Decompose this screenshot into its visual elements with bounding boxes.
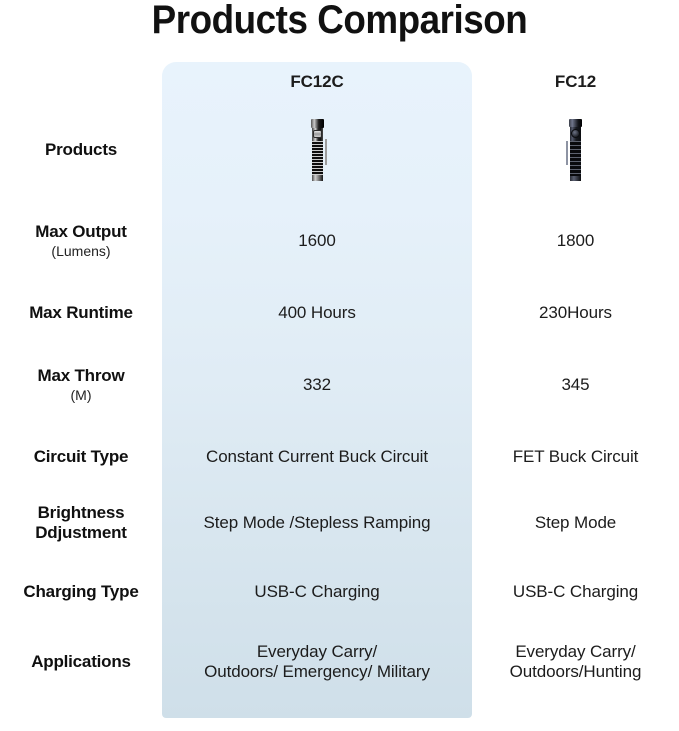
page-title: Products Comparison	[27, 0, 652, 43]
product-image-fc12-cell	[472, 119, 679, 181]
row-label-max-runtime: Max Runtime	[0, 303, 162, 323]
value-line1: Everyday Carry/	[515, 642, 635, 661]
value-line2: Outdoors/ Emergency/ Military	[168, 662, 466, 682]
table-header-row: FC12C FC12	[0, 62, 679, 102]
value-fc12c-max-throw: 332	[162, 375, 472, 395]
value-fc12c-charging-type: USB-C Charging	[162, 582, 472, 602]
table-row-max-output: Max Output (Lumens) 1600 1800	[0, 198, 679, 284]
flashlight-icon	[309, 119, 326, 181]
row-label-max-output: Max Output (Lumens)	[0, 222, 162, 260]
value-fc12c-brightness-adjustment: Step Mode /Stepless Ramping	[162, 513, 472, 533]
row-label-charging-type: Charging Type	[0, 582, 162, 602]
row-label-text: Max Throw	[38, 366, 125, 385]
value-fc12-brightness-adjustment: Step Mode	[472, 513, 679, 533]
value-fc12-charging-type: USB-C Charging	[472, 582, 679, 602]
row-label-text: Max Output	[35, 222, 127, 241]
value-fc12-max-throw: 345	[472, 375, 679, 395]
value-fc12c-applications: Everyday Carry/ Outdoors/ Emergency/ Mil…	[162, 642, 472, 682]
row-label-line2: Ddjustment	[35, 523, 127, 542]
row-label-circuit-type: Circuit Type	[0, 447, 162, 467]
table-row-brightness-adjustment: Brightness Ddjustment Step Mode /Steples…	[0, 486, 679, 560]
table-row-max-throw: Max Throw (M) 332 345	[0, 342, 679, 428]
table-row-products: Products	[0, 102, 679, 198]
value-fc12-circuit-type: FET Buck Circuit	[472, 447, 679, 467]
value-fc12-max-runtime: 230Hours	[472, 303, 679, 323]
value-fc12c-max-output: 1600	[162, 231, 472, 251]
row-label-applications: Applications	[0, 652, 162, 672]
row-label-unit: (Lumens)	[6, 243, 156, 260]
column-header-fc12c: FC12C	[162, 72, 472, 92]
value-fc12-max-output: 1800	[472, 231, 679, 251]
row-label-max-throw: Max Throw (M)	[0, 366, 162, 404]
table-row-max-runtime: Max Runtime 400 Hours 230Hours	[0, 284, 679, 342]
flashlight-icon	[567, 119, 584, 181]
value-line1: Everyday Carry/	[257, 642, 377, 661]
value-fc12-applications: Everyday Carry/ Outdoors/Hunting	[472, 642, 679, 682]
row-label-products: Products	[0, 140, 162, 160]
table-row-circuit-type: Circuit Type Constant Current Buck Circu…	[0, 428, 679, 486]
table-row-applications: Applications Everyday Carry/ Outdoors/ E…	[0, 624, 679, 700]
value-fc12c-max-runtime: 400 Hours	[162, 303, 472, 323]
value-line2: Outdoors/Hunting	[478, 662, 673, 682]
table-row-charging-type: Charging Type USB-C Charging USB-C Charg…	[0, 560, 679, 624]
column-header-fc12: FC12	[472, 72, 679, 92]
row-label-line1: Brightness	[38, 503, 125, 522]
row-label-brightness-adjustment: Brightness Ddjustment	[0, 503, 162, 543]
row-label-unit: (M)	[6, 387, 156, 404]
product-image-fc12c-cell	[162, 119, 472, 181]
value-fc12c-circuit-type: Constant Current Buck Circuit	[162, 447, 472, 467]
comparison-table: FC12C FC12 Products	[0, 62, 679, 700]
